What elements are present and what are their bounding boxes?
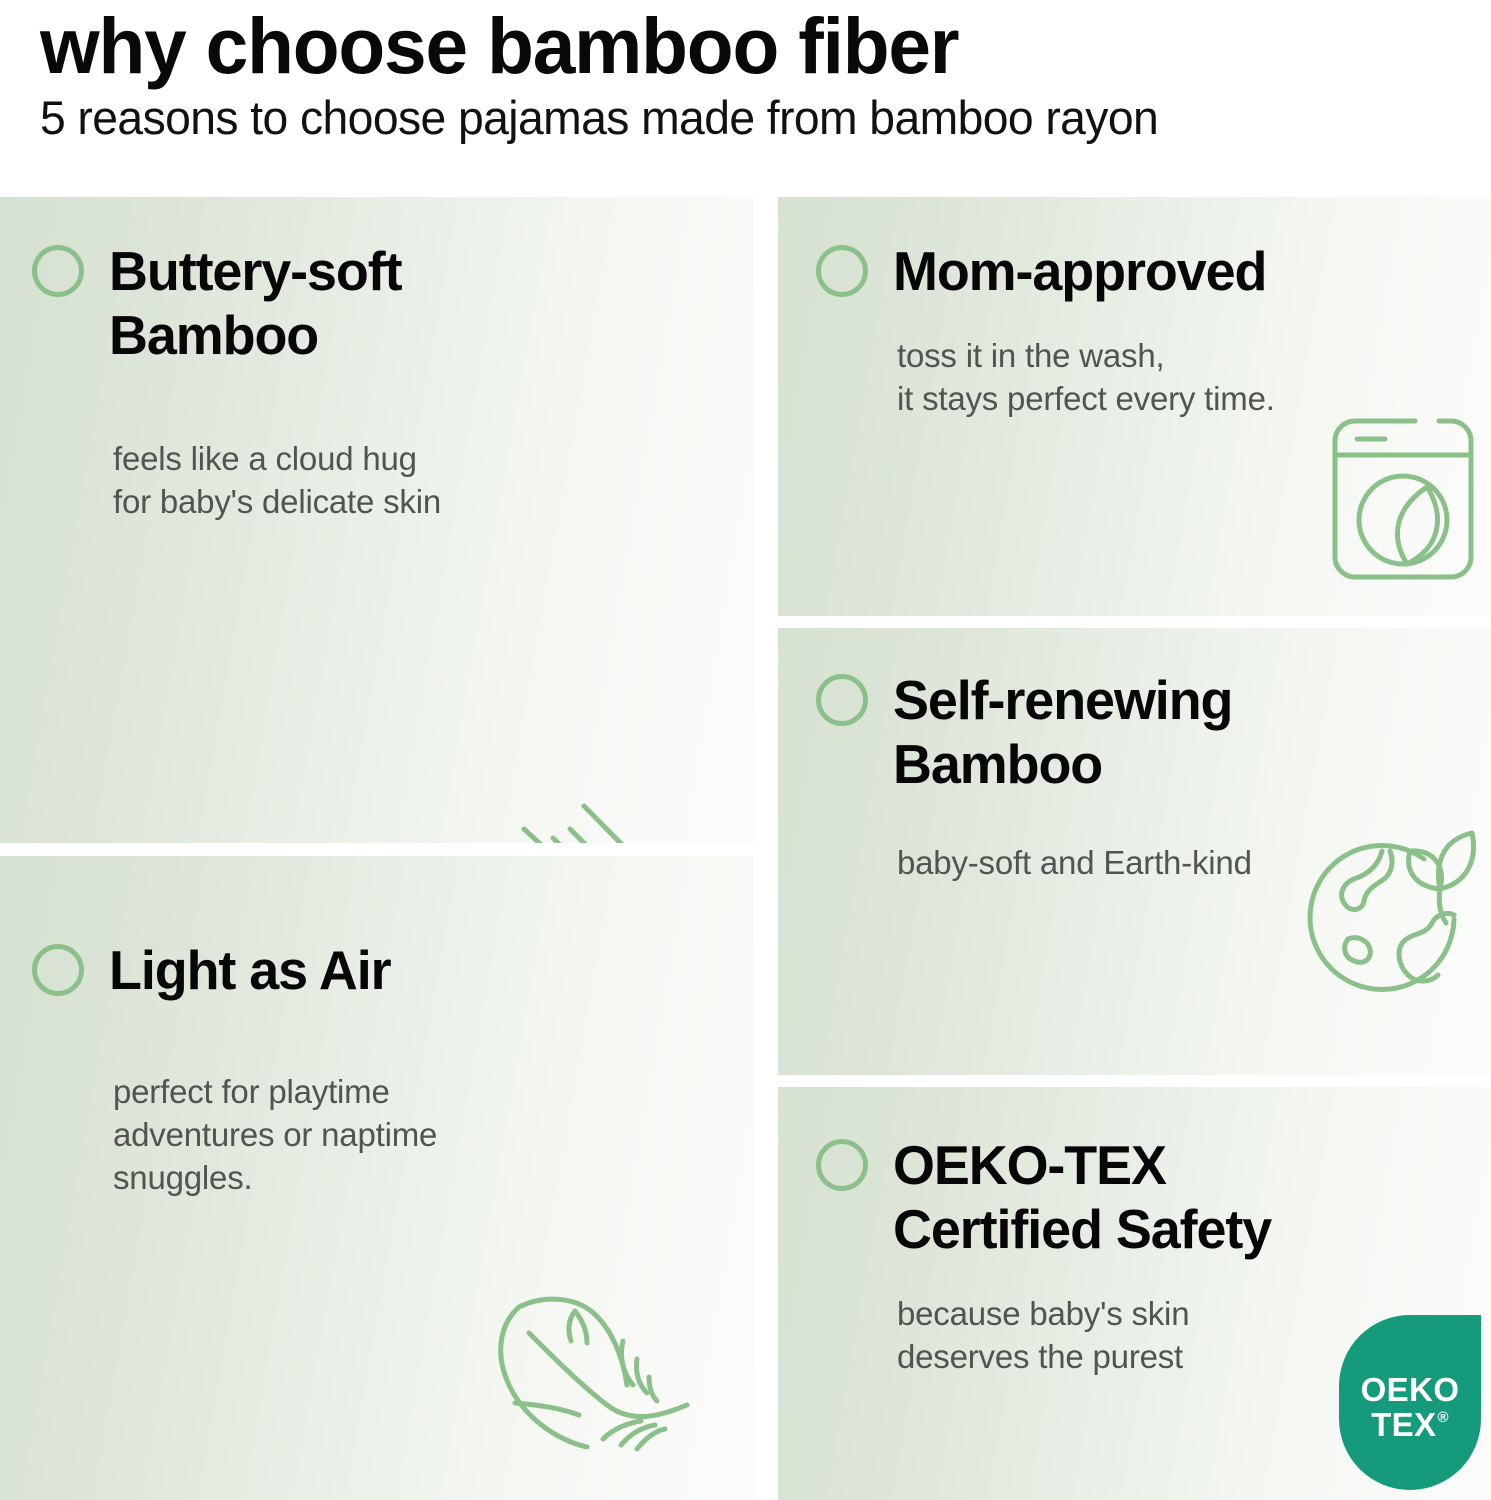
earth-leaf-icon bbox=[1306, 823, 1482, 999]
card-body-text: feels like a cloud hug for baby's delica… bbox=[113, 437, 441, 523]
registered-trademark-icon: ® bbox=[1437, 1410, 1448, 1425]
card-header: Buttery-soft Bamboo bbox=[32, 239, 407, 367]
hand-softness-icon bbox=[498, 793, 730, 843]
washing-machine-icon bbox=[1327, 415, 1479, 583]
card-title: OEKO-TEX Certified Safety bbox=[893, 1133, 1271, 1261]
feature-card-mom-approved: Mom-approved toss it in the wash, it sta… bbox=[778, 197, 1491, 616]
oeko-badge-line-two: TEX® bbox=[1371, 1407, 1449, 1442]
feather-icon bbox=[487, 1281, 709, 1471]
infographic-page: why choose bamboo fiber 5 reasons to cho… bbox=[0, 0, 1491, 1500]
feature-card-self-renewing-bamboo: Self-renewing Bamboo baby-soft and Earth… bbox=[778, 628, 1491, 1075]
circle-bullet-icon bbox=[816, 245, 868, 297]
card-body-text: perfect for playtime adventures or napti… bbox=[113, 1070, 437, 1199]
feature-card-buttery-soft-bamboo: Buttery-soft Bamboo feels like a cloud h… bbox=[0, 197, 754, 843]
card-header: OEKO-TEX Certified Safety bbox=[816, 1133, 1279, 1261]
circle-bullet-icon bbox=[32, 245, 84, 297]
oeko-badge-tex-text: TEX bbox=[1371, 1407, 1436, 1442]
circle-bullet-icon bbox=[32, 944, 84, 996]
card-body-text: toss it in the wash, it stays perfect ev… bbox=[897, 334, 1275, 420]
feature-card-oeko-tex-certified-safety: OEKO-TEX Certified Safety because baby's… bbox=[778, 1087, 1491, 1500]
card-header: Mom-approved bbox=[816, 239, 1274, 303]
oeko-badge-line-one: OEKO bbox=[1361, 1372, 1460, 1407]
circle-bullet-icon bbox=[816, 674, 868, 726]
circle-bullet-icon bbox=[816, 1139, 868, 1191]
card-header: Self-renewing Bamboo bbox=[816, 668, 1239, 796]
page-subtitle: 5 reasons to choose pajamas made from ba… bbox=[40, 90, 1469, 146]
card-title: Buttery-soft Bamboo bbox=[109, 239, 401, 367]
feature-card-grid: Buttery-soft Bamboo feels like a cloud h… bbox=[0, 197, 1491, 1500]
card-title: Light as Air bbox=[109, 938, 391, 1002]
card-title: Mom-approved bbox=[893, 239, 1266, 303]
oeko-tex-badge: OEKO TEX® bbox=[1339, 1315, 1481, 1490]
card-body-text: because baby's skin deserves the purest bbox=[897, 1292, 1189, 1378]
card-body-text: baby-soft and Earth-kind bbox=[897, 841, 1252, 884]
feature-card-light-as-air: Light as Air perfect for playtime advent… bbox=[0, 856, 754, 1500]
card-header: Light as Air bbox=[32, 938, 396, 1002]
page-header: why choose bamboo fiber 5 reasons to cho… bbox=[0, 0, 1491, 197]
card-title: Self-renewing Bamboo bbox=[893, 668, 1232, 796]
page-title: why choose bamboo fiber bbox=[40, 4, 1447, 88]
